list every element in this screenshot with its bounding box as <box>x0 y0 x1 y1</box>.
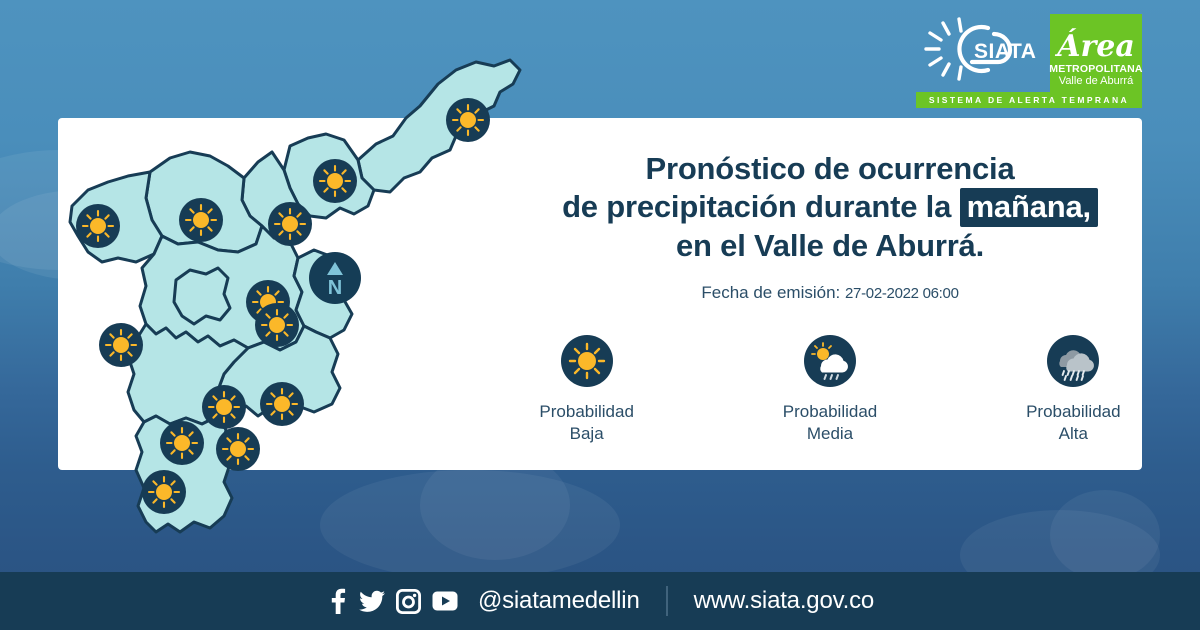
marker-copacabana[interactable] <box>268 202 312 246</box>
municipality-inner-notch <box>174 268 230 324</box>
marker-bello[interactable] <box>179 198 223 242</box>
compass-letter: N <box>328 277 342 298</box>
youtube-icon[interactable] <box>432 591 458 611</box>
siata-logo: SIATA <box>916 14 1046 84</box>
cloud-rain-icon <box>1047 335 1099 387</box>
footer-divider <box>666 586 668 616</box>
marker-san-jeronimo[interactable] <box>99 323 143 367</box>
marker-san-pedro[interactable] <box>76 204 120 248</box>
social-icons <box>326 588 458 614</box>
siata-tagline-strip: SISTEMA DE ALERTA TEMPRANA <box>916 92 1142 108</box>
marker-la-estrella[interactable] <box>160 421 204 465</box>
marker-girardota[interactable] <box>313 159 357 203</box>
footer-bar: @siatamedellin www.siata.gov.co <box>0 572 1200 630</box>
area-logo-line2: Valle de Aburrá <box>1059 75 1133 88</box>
legend-item-baja: Probabilidad Baja <box>520 335 653 445</box>
legend-label-baja: Probabilidad Baja <box>520 401 653 445</box>
area-logo-script: Área <box>1057 32 1135 62</box>
title-highlight-manana: mañana, <box>960 188 1098 227</box>
title-line-2-text: de precipitación durante la <box>562 189 951 224</box>
siata-tagline-text: SISTEMA DE ALERTA TEMPRANA <box>929 95 1129 105</box>
title-line-1: Pronóstico de ocurrencia <box>520 150 1140 188</box>
siata-logo-icon: SIATA <box>916 14 1046 84</box>
twitter-icon[interactable] <box>359 588 385 614</box>
social-handle[interactable]: @siatamedellin <box>478 587 640 615</box>
legend-label-line1: Probabilidad <box>763 401 896 423</box>
background-cloud <box>1050 490 1160 580</box>
municipality-barbosa <box>358 60 520 192</box>
legend-label-line1: Probabilidad <box>520 401 653 423</box>
issue-date-label: Fecha de emisión: <box>701 283 840 302</box>
legend-item-media: Probabilidad Media <box>763 335 896 445</box>
marker-barbosa[interactable] <box>446 98 490 142</box>
marker-caldas[interactable] <box>142 470 186 514</box>
forecast-content: Pronóstico de ocurrencia de precipitació… <box>520 150 1140 446</box>
legend-label-line2: Baja <box>520 423 653 445</box>
svg-text:SIATA: SIATA <box>974 40 1036 63</box>
infographic-canvas: SIATA Área METROPOLITANA Valle de Aburrá… <box>0 0 1200 630</box>
legend-item-alta: Probabilidad Alta <box>1007 335 1140 445</box>
compass-glyph: N <box>318 258 352 298</box>
marker-itagui[interactable] <box>202 385 246 429</box>
legend-label-media: Probabilidad Media <box>763 401 896 445</box>
probability-legend: Probabilidad Baja <box>520 335 1140 445</box>
sun-icon <box>561 335 613 387</box>
area-metropolitana-logo: Área METROPOLITANA Valle de Aburrá <box>1050 14 1142 92</box>
valle-de-aburra-map: N <box>58 40 528 580</box>
website-url[interactable]: www.siata.gov.co <box>694 587 874 615</box>
legend-label-alta: Probabilidad Alta <box>1007 401 1140 445</box>
legend-label-line1: Probabilidad <box>1007 401 1140 423</box>
page-title: Pronóstico de ocurrencia de precipitació… <box>520 150 1140 265</box>
area-logo-line1: METROPOLITANA <box>1049 64 1142 76</box>
title-line-3: en el Valle de Aburrá. <box>520 227 1140 265</box>
issue-date: Fecha de emisión: 27-02-2022 06:00 <box>520 283 1140 303</box>
instagram-icon[interactable] <box>396 589 421 614</box>
sun-cloud-rain-icon <box>804 335 856 387</box>
legend-label-line2: Media <box>763 423 896 445</box>
legend-label-line2: Alta <box>1007 423 1140 445</box>
logo-group: SIATA Área METROPOLITANA Valle de Aburrá <box>916 14 1142 92</box>
title-line-2: de precipitación durante la mañana, <box>520 188 1140 226</box>
marker-sabaneta[interactable] <box>260 382 304 426</box>
issue-date-value: 27-02-2022 06:00 <box>845 285 959 302</box>
compass-north-icon: N <box>309 252 361 304</box>
marker-guarne[interactable] <box>255 303 299 347</box>
facebook-icon[interactable] <box>326 588 348 614</box>
marker-envigado[interactable] <box>216 427 260 471</box>
